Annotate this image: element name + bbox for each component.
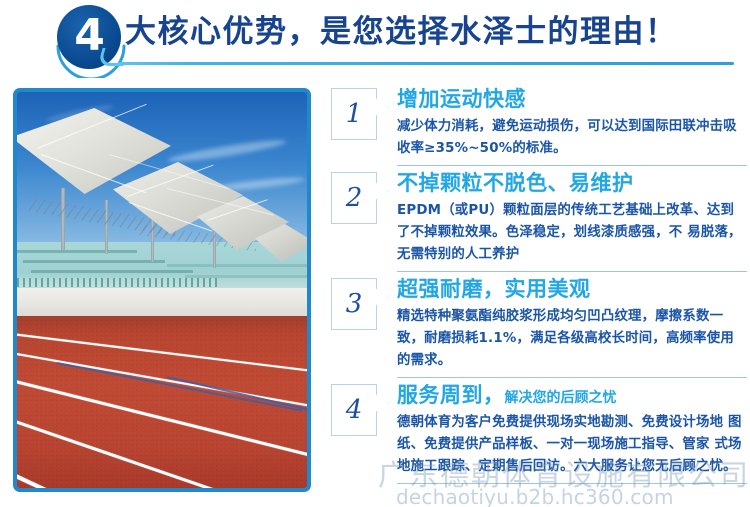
item-number-box: 4 bbox=[331, 384, 377, 436]
item-heading: 增加运动快感 bbox=[397, 86, 743, 115]
item-number: 2 bbox=[346, 185, 363, 211]
item-divider bbox=[397, 271, 747, 272]
item-heading: 服务周到，解决您的后顾之忧 bbox=[397, 382, 743, 411]
item-heading: 不掉颗粒不脱色、易维护 bbox=[397, 170, 743, 199]
section-number-badge: 4 bbox=[52, 2, 128, 78]
watermark-url: dechaotiyu.b2b.hc360.com bbox=[396, 485, 674, 507]
support-mast bbox=[61, 188, 65, 250]
header-divider-rule bbox=[118, 62, 734, 65]
item-body: 超强耐磨，实用美观 精选特种聚氨酯纯胶浆形成均匀凹凸纹理，摩擦系数一致，耐磨损耗… bbox=[397, 276, 747, 372]
item-number-box: 2 bbox=[331, 172, 377, 224]
item-description: 精选特种聚氨酯纯胶浆形成均匀凹凸纹理，摩擦系数一致，耐磨损耗1.1%，满足各级高… bbox=[397, 306, 743, 372]
seat-row bbox=[23, 260, 165, 263]
list-item: 4 服务周到，解决您的后顾之忧 德朝体育为客户免费提供现场实地勘测、免费设计场地… bbox=[329, 382, 747, 478]
item-description: EPDM（或PU）颗粒面层的传统工艺基础上改革、达到了不掉颗粒效果。色泽稳定，划… bbox=[397, 200, 743, 266]
promo-banner: 4 大核心优势，是您选择水泽士的理由！ bbox=[0, 0, 750, 507]
item-heading-main: 不掉颗粒不脱色、易维护 bbox=[397, 171, 634, 195]
item-heading-main: 增加运动快感 bbox=[397, 87, 526, 111]
header: 4 大核心优势，是您选择水泽士的理由！ bbox=[0, 0, 750, 78]
item-number-box: 1 bbox=[331, 88, 377, 140]
item-heading-sub: 解决您的后顾之忧 bbox=[505, 390, 617, 406]
list-item: 1 增加运动快感 减少体力消耗，避免运动损伤，可以达到国际田联冲击吸收率≥35%… bbox=[329, 86, 747, 160]
item-divider bbox=[397, 165, 747, 166]
list-item: 2 不掉颗粒不脱色、易维护 EPDM（或PU）颗粒面层的传统工艺基础上改革、达到… bbox=[329, 170, 747, 266]
item-number-tab bbox=[376, 288, 388, 306]
item-heading-main: 超强耐磨，实用美观 bbox=[397, 277, 591, 301]
item-heading-main: 服务周到， bbox=[397, 383, 505, 407]
railing bbox=[17, 278, 217, 287]
item-number-box: 3 bbox=[331, 278, 377, 330]
stadium-photo-frame bbox=[13, 88, 311, 492]
item-number: 1 bbox=[346, 101, 363, 127]
item-number-tab bbox=[376, 182, 388, 200]
item-number: 3 bbox=[346, 291, 363, 317]
item-description: 减少体力消耗，避免运动损伤，可以达到国际田联冲击吸收率≥35%~50%的标准。 bbox=[397, 116, 743, 160]
item-description: 德朝体育为客户免费提供现场实地勘测、免费设计场地 图纸、免费提供产品样板、一对一… bbox=[397, 412, 743, 478]
item-number-tab bbox=[376, 98, 388, 116]
support-mast bbox=[105, 200, 108, 254]
item-body: 不掉颗粒不脱色、易维护 EPDM（或PU）颗粒面层的传统工艺基础上改革、达到了不… bbox=[397, 170, 747, 266]
item-divider bbox=[397, 483, 747, 484]
feature-list: 1 增加运动快感 减少体力消耗，避免运动损伤，可以达到国际田联冲击吸收率≥35%… bbox=[329, 86, 747, 488]
stadium-photo bbox=[17, 92, 307, 488]
running-track bbox=[17, 316, 307, 488]
item-body: 增加运动快感 减少体力消耗，避免运动损伤，可以达到国际田联冲击吸收率≥35%~5… bbox=[397, 86, 747, 160]
seat-row bbox=[167, 264, 307, 267]
list-item: 3 超强耐磨，实用美观 精选特种聚氨酯纯胶浆形成均匀凹凸纹理，摩擦系数一致，耐磨… bbox=[329, 276, 747, 372]
seat-row bbox=[17, 250, 137, 253]
item-number: 4 bbox=[346, 397, 363, 423]
badge-number-text: 4 bbox=[74, 14, 104, 58]
item-heading: 超强耐磨，实用美观 bbox=[397, 276, 743, 305]
page-title: 大核心优势，是您选择水泽士的理由！ bbox=[125, 9, 678, 55]
item-body: 服务周到，解决您的后顾之忧 德朝体育为客户免费提供现场实地勘测、免费设计场地 图… bbox=[397, 382, 747, 478]
seat-row bbox=[31, 270, 193, 273]
item-divider bbox=[397, 377, 747, 378]
item-number-tab bbox=[376, 394, 388, 412]
